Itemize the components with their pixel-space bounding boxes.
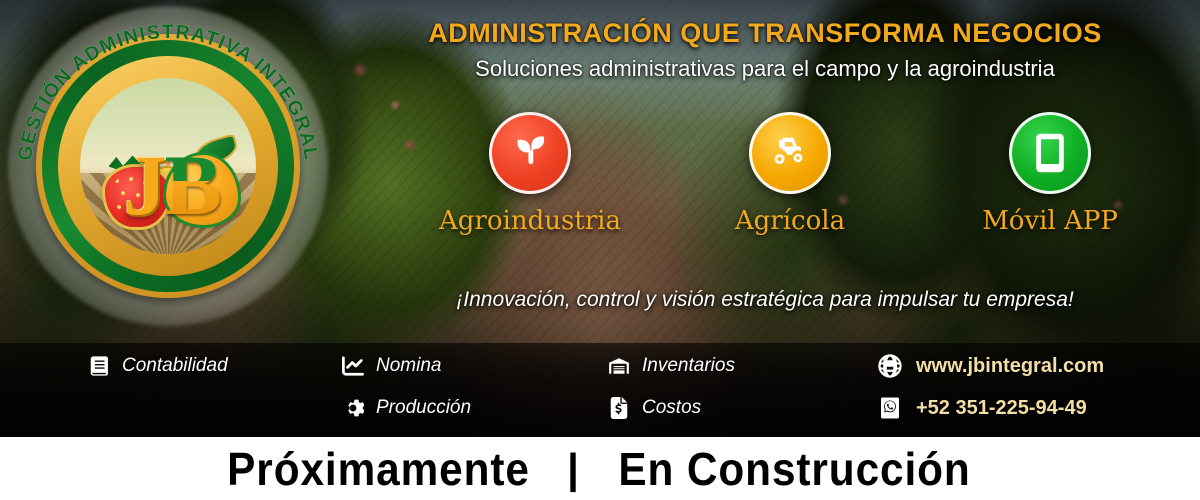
chart-line-icon	[342, 355, 364, 377]
ledger-book-icon	[88, 355, 110, 377]
logo-arc-text: GESTIÓN ADMINISTRATIVA INTEGRAL	[8, 6, 328, 326]
footer-left-text: Próximamente	[227, 442, 530, 496]
pillar-agricola[interactable]: Agrícola	[680, 112, 900, 236]
tagline: ¡Innovación, control y visión estratégic…	[340, 288, 1190, 312]
promo-banner: JB GESTIÓN ADMINISTRATIVA INTEGRAL ADMIN…	[0, 0, 1200, 500]
service-costos-label: Costos	[642, 397, 701, 419]
pillar-movil-app[interactable]: Móvil APP	[940, 112, 1160, 236]
service-produccion-label: Producción	[376, 397, 471, 419]
logo-arc-label: GESTIÓN ADMINISTRATIVA INTEGRAL	[14, 21, 322, 162]
pillar-agricola-label: Agrícola	[680, 206, 900, 236]
contact-whatsapp[interactable]: +52 351-225-94-49	[878, 396, 1087, 420]
service-nomina[interactable]: Nomina	[342, 355, 441, 377]
service-contabilidad[interactable]: Contabilidad	[88, 355, 228, 377]
footer-right-text: En Construcción	[618, 442, 970, 496]
pillars-row: Agroindustria Agrícola Móvil APP	[400, 112, 1180, 236]
mobile-phone-icon	[1028, 131, 1072, 175]
footer-banner: Próximamente | En Construcción	[0, 437, 1200, 500]
whatsapp-icon	[878, 396, 902, 420]
pillar-agricola-circle[interactable]	[749, 112, 831, 194]
pillar-movil-app-label: Móvil APP	[940, 206, 1160, 236]
service-contabilidad-label: Contabilidad	[122, 355, 228, 377]
gear-icon	[342, 397, 364, 419]
company-logo[interactable]: JB GESTIÓN ADMINISTRATIVA INTEGRAL	[8, 6, 328, 326]
pillar-movil-app-circle[interactable]	[1009, 112, 1091, 194]
pillar-agroindustria-label: Agroindustria	[420, 206, 640, 236]
headline-block: ADMINISTRACIÓN QUE TRANSFORMA NEGOCIOS S…	[340, 18, 1190, 82]
pillar-agroindustria[interactable]: Agroindustria	[420, 112, 640, 236]
headline-subtitle: Soluciones administrativas para el campo…	[340, 56, 1190, 82]
globe-icon	[878, 354, 902, 378]
service-inventarios-label: Inventarios	[642, 355, 735, 377]
warehouse-icon	[608, 355, 630, 377]
contact-phone-label: +52 351-225-94-49	[916, 397, 1087, 420]
service-inventarios[interactable]: Inventarios	[608, 355, 735, 377]
seedling-icon	[508, 131, 552, 175]
invoice-dollar-icon	[608, 397, 630, 419]
contact-website[interactable]: www.jbintegral.com	[878, 354, 1104, 378]
tractor-icon	[768, 131, 812, 175]
pillar-agroindustria-circle[interactable]	[489, 112, 571, 194]
contact-website-label: www.jbintegral.com	[916, 355, 1104, 378]
svg-text:GESTIÓN ADMINISTRATIVA INTEGRA: GESTIÓN ADMINISTRATIVA INTEGRAL	[14, 21, 322, 162]
headline-title: ADMINISTRACIÓN QUE TRANSFORMA NEGOCIOS	[340, 18, 1190, 49]
service-nomina-label: Nomina	[376, 355, 441, 377]
service-costos[interactable]: Costos	[608, 397, 701, 419]
footer-separator: |	[567, 445, 579, 493]
service-produccion[interactable]: Producción	[342, 397, 471, 419]
services-contact-strip: Contabilidad Nomina Producción Inventari…	[0, 343, 1200, 437]
